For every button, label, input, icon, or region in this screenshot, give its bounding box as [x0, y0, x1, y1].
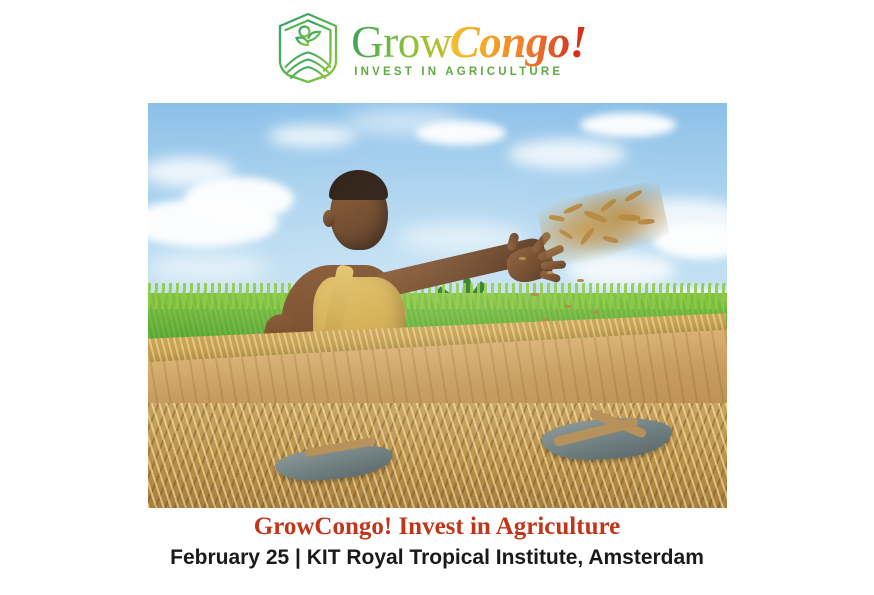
chaff-bit [563, 202, 583, 215]
chaff-speck [565, 305, 571, 308]
hexagon-shield-sprout-icon [275, 11, 341, 85]
logo-word-congo: Congo [450, 17, 570, 67]
growcongo-logo[interactable]: GrowCongo! INVEST IN AGRICULTURE [275, 11, 587, 85]
event-title: GrowCongo! Invest in Agriculture [0, 512, 874, 542]
chaff-speck [531, 293, 539, 296]
logo-exclamation: ! [570, 17, 587, 67]
hero-photo-scene [148, 103, 727, 508]
chaff-bit [599, 198, 616, 213]
chaff-speck [519, 257, 526, 260]
farmer-hair [329, 170, 388, 200]
caption-block: GrowCongo! Invest in Agriculture Februar… [0, 512, 874, 570]
chaff-speck [577, 279, 584, 282]
chaff-bit [583, 209, 608, 224]
chaff-bit [624, 189, 643, 203]
logo-word-grow: Grow [351, 17, 451, 67]
chaff-bit [558, 229, 573, 240]
poster-page: GrowCongo! INVEST IN AGRICULTURE [0, 0, 874, 595]
logo-type: GrowCongo! INVEST IN AGRICULTURE [351, 20, 587, 77]
chaff-bit [579, 227, 595, 246]
chaff-speck [593, 311, 599, 314]
logo-wordmark: GrowCongo! [351, 20, 587, 64]
event-details: February 25 | KIT Royal Tropical Institu… [0, 545, 874, 570]
chaff-bit [637, 219, 654, 225]
logo-tagline: INVEST IN AGRICULTURE [354, 66, 563, 78]
chaff-bit [602, 235, 619, 244]
chaff-speck [547, 271, 553, 274]
header: GrowCongo! INVEST IN AGRICULTURE [0, 0, 874, 96]
chaff-bit [548, 214, 565, 222]
hero-photo [148, 103, 727, 508]
